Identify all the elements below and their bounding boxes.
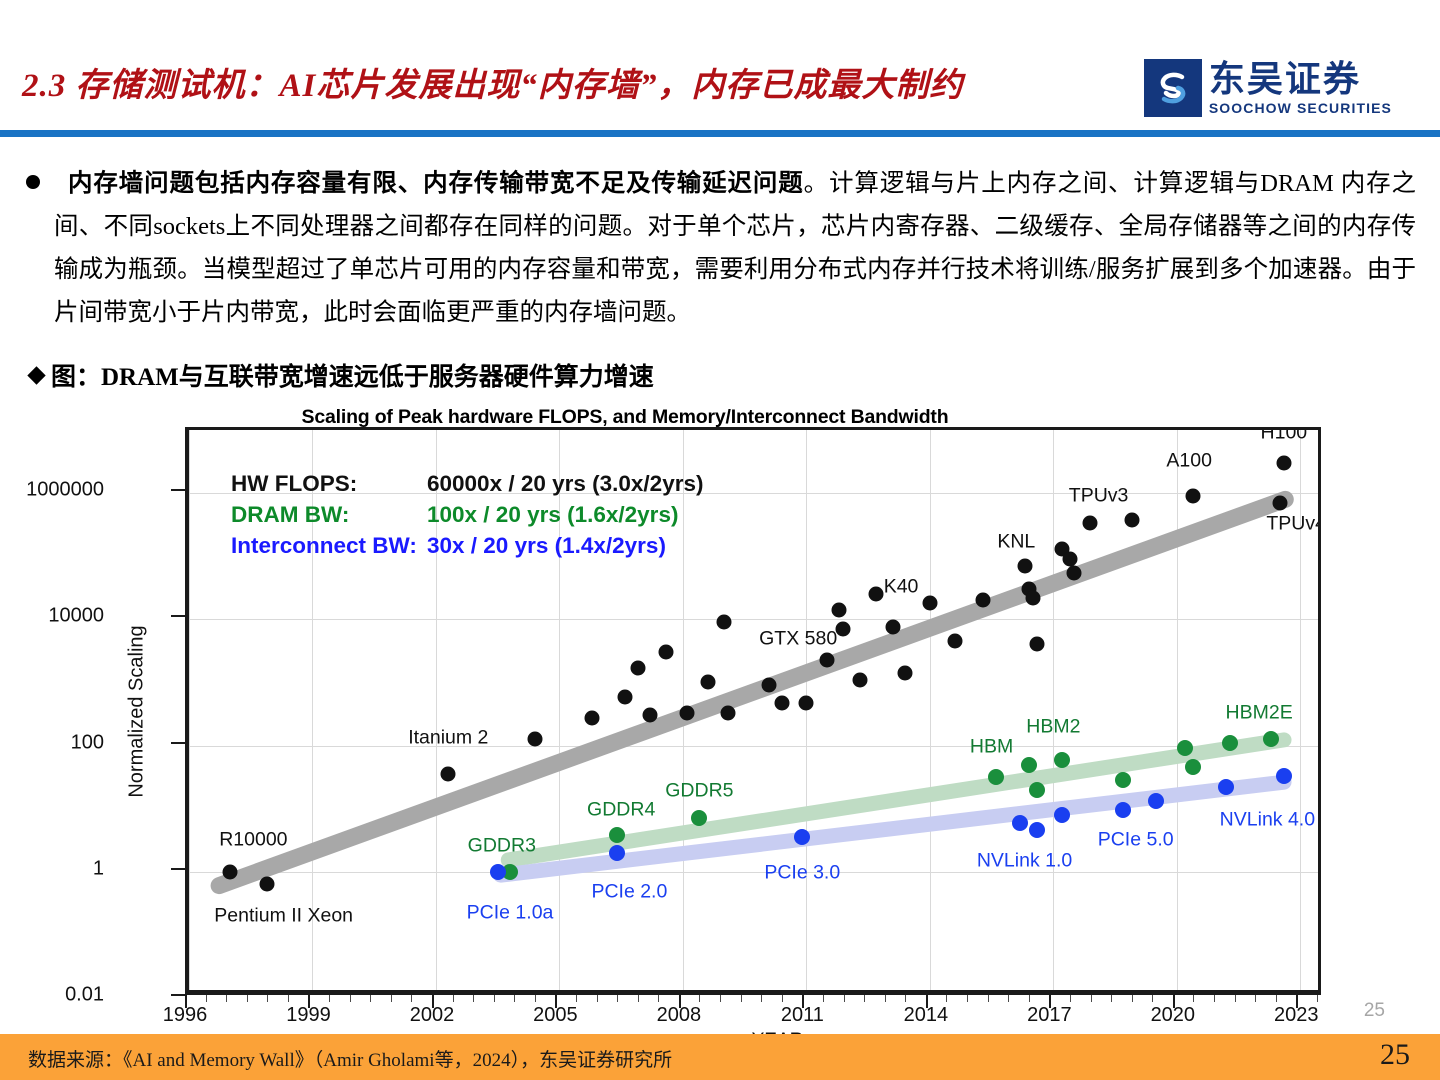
y-axis-title: Normalized Scaling — [126, 602, 149, 822]
x-axis-minor-tick — [967, 995, 968, 1002]
data-point — [1115, 772, 1131, 788]
data-point — [1276, 455, 1291, 470]
figure-caption-text: 图：DRAM与互联带宽增速远低于服务器硬件算力增速 — [51, 357, 654, 393]
y-axis-tick — [171, 615, 185, 617]
x-axis-minor-tick — [885, 995, 886, 1002]
x-axis-minor-tick — [741, 995, 742, 1002]
x-axis-minor-tick — [1008, 995, 1009, 1002]
chart-title: Scaling of Peak hardware FLOPS, and Memo… — [60, 406, 1370, 429]
page-number: 25 — [1380, 1038, 1410, 1072]
data-point — [630, 660, 645, 675]
legend-value: 30x / 20 yrs (1.4x/2yrs) — [427, 530, 666, 561]
bullet-paragraph: 内存墙问题包括内存容量有限、内存传输带宽不足及传输延迟问题。计算逻辑与片上内存之… — [26, 162, 1416, 334]
data-point — [260, 877, 275, 892]
data-point — [527, 732, 542, 747]
x-axis-minor-tick — [720, 995, 721, 1002]
x-axis-minor-tick — [1091, 995, 1092, 1002]
data-point — [1066, 565, 1081, 580]
x-axis-minor-tick — [1152, 995, 1153, 1002]
data-point — [852, 672, 867, 687]
x-axis-tick-label: 1999 — [286, 1004, 331, 1027]
point-label: H100 — [1261, 427, 1308, 444]
point-label: TPUv3 — [1069, 484, 1129, 507]
data-point — [1124, 512, 1139, 527]
x-axis-tick-label: 2011 — [781, 1004, 824, 1027]
data-point — [1054, 752, 1070, 768]
x-axis-minor-tick — [1132, 995, 1133, 1002]
x-axis-minor-tick — [1111, 995, 1112, 1002]
figure-caption: 图：DRAM与互联带宽增速远低于服务器硬件算力增速 — [30, 357, 654, 393]
x-axis-minor-tick — [1214, 995, 1215, 1002]
x-axis-minor-tick — [329, 995, 330, 1002]
footer-bar: 数据来源：《AI and Memory Wall》（Amir Gholami等，… — [0, 1034, 1440, 1080]
data-point — [609, 845, 625, 861]
data-point — [1276, 768, 1292, 784]
y-axis-tick-label: 100 — [71, 731, 104, 754]
x-axis-tick-label: 2005 — [533, 1004, 578, 1027]
legend-label: HW FLOPS: — [231, 468, 427, 499]
data-point — [585, 711, 600, 726]
y-axis-tick — [171, 994, 185, 996]
data-point — [441, 767, 456, 782]
x-axis-tick-label: 2002 — [410, 1004, 455, 1027]
x-axis-minor-tick — [391, 995, 392, 1002]
x-axis-minor-tick — [1070, 995, 1071, 1002]
plot-area: R10000Pentium II XeonItanium 2GTX 580K40… — [185, 427, 1321, 995]
data-point — [700, 675, 715, 690]
point-label: GTX 580 — [759, 628, 837, 651]
data-point — [1222, 735, 1238, 751]
point-label: NVLink 4.0 — [1220, 809, 1315, 832]
data-point — [1083, 516, 1098, 531]
data-point — [1029, 637, 1044, 652]
x-axis-minor-tick — [535, 995, 536, 1002]
x-axis-minor-tick — [494, 995, 495, 1002]
data-point — [799, 695, 814, 710]
diamond-bullet-icon — [27, 366, 45, 384]
x-axis-minor-tick — [638, 995, 639, 1002]
data-point — [1025, 590, 1040, 605]
legend-value: 60000x / 20 yrs (3.0x/2yrs) — [427, 468, 703, 499]
logo-mark-icon — [1144, 59, 1202, 117]
logo-text-cn: 东吴证券 — [1209, 61, 1392, 97]
data-point — [774, 695, 789, 710]
legend-label: DRAM BW: — [231, 499, 427, 530]
point-label: NVLink 1.0 — [977, 849, 1072, 872]
point-label: Itanium 2 — [408, 727, 488, 750]
point-label: TPUv4 — [1266, 513, 1321, 536]
x-axis-minor-tick — [370, 995, 371, 1002]
grid-line-horizontal — [189, 619, 1318, 620]
data-point — [1177, 740, 1193, 756]
point-label: HBM2 — [1026, 715, 1080, 738]
legend-label: Interconnect BW: — [231, 530, 427, 561]
x-axis-minor-tick — [844, 995, 845, 1002]
point-label: A100 — [1166, 450, 1212, 473]
data-point — [1185, 759, 1201, 775]
x-axis-tick-label: 2017 — [1027, 1004, 1072, 1027]
grid-line-horizontal — [189, 872, 1318, 873]
data-point — [642, 708, 657, 723]
x-axis-minor-tick — [1255, 995, 1256, 1002]
x-axis-minor-tick — [658, 995, 659, 1002]
x-axis-minor-tick — [411, 995, 412, 1002]
grid-line-vertical — [1053, 430, 1054, 990]
x-axis-minor-tick — [1317, 995, 1318, 1002]
legend-row: DRAM BW:100x / 20 yrs (1.6x/2yrs) — [231, 499, 703, 530]
x-axis-tick-label: 2014 — [904, 1004, 949, 1027]
bullet-text: 内存墙问题包括内存容量有限、内存传输带宽不足及传输延迟问题。计算逻辑与片上内存之… — [54, 162, 1416, 334]
point-label: HBM — [970, 735, 1013, 758]
y-axis-tick — [171, 868, 185, 870]
x-axis-minor-tick — [988, 995, 989, 1002]
grid-line-vertical — [189, 430, 190, 990]
y-axis-tick — [171, 742, 185, 744]
x-axis-minor-tick — [247, 995, 248, 1002]
x-axis-minor-tick — [617, 995, 618, 1002]
data-point — [1263, 731, 1279, 747]
data-point — [1115, 802, 1131, 818]
y-axis-tick — [171, 489, 185, 491]
y-axis-tick-label: 10000 — [48, 605, 104, 628]
point-label: R10000 — [219, 828, 287, 851]
point-label: HBM2E — [1226, 701, 1293, 724]
chart-figure: Scaling of Peak hardware FLOPS, and Memo… — [60, 400, 1370, 1050]
point-label: Pentium II Xeon — [214, 904, 353, 927]
grid-line-vertical — [930, 430, 931, 990]
x-axis-minor-tick — [473, 995, 474, 1002]
y-axis-tick-label: 1 — [93, 857, 104, 880]
x-axis-minor-tick — [288, 995, 289, 1002]
data-point — [1218, 779, 1234, 795]
data-point — [1021, 757, 1037, 773]
x-axis-minor-tick — [864, 995, 865, 1002]
data-point — [659, 645, 674, 660]
data-point — [1186, 488, 1201, 503]
data-point — [762, 678, 777, 693]
y-axis-tick-label: 0.01 — [65, 984, 104, 1007]
x-axis-tick-label: 2020 — [1151, 1004, 1196, 1027]
data-point — [680, 705, 695, 720]
data-point — [1017, 558, 1032, 573]
data-point — [717, 615, 732, 630]
data-point — [1029, 822, 1045, 838]
point-label: GDDR4 — [587, 799, 655, 822]
legend-row: HW FLOPS:60000x / 20 yrs (3.0x/2yrs) — [231, 468, 703, 499]
data-point — [1272, 495, 1287, 510]
data-point — [1148, 793, 1164, 809]
point-label: GDDR5 — [665, 780, 733, 803]
data-point — [976, 593, 991, 608]
x-axis-minor-tick — [226, 995, 227, 1002]
legend-row: Interconnect BW:30x / 20 yrs (1.4x/2yrs) — [231, 530, 703, 561]
data-point — [223, 864, 238, 879]
grid-line-horizontal — [189, 746, 1318, 747]
x-axis-minor-tick — [1193, 995, 1194, 1002]
data-point — [819, 652, 834, 667]
y-axis-tick-label: 1000000 — [26, 479, 104, 502]
grid-line-vertical — [1177, 430, 1178, 990]
chart-legend: HW FLOPS:60000x / 20 yrs (3.0x/2yrs)DRAM… — [231, 468, 703, 561]
x-axis-minor-tick — [514, 995, 515, 1002]
source-note: 数据来源：《AI and Memory Wall》（Amir Gholami等，… — [28, 1045, 672, 1072]
x-axis-minor-tick — [350, 995, 351, 1002]
data-point — [490, 864, 506, 880]
x-axis-minor-tick — [206, 995, 207, 1002]
page-title: 2.3 存储测试机：AI芯片发展出现“内存墙”，内存已成最大制约 — [22, 58, 1202, 106]
x-axis-minor-tick — [905, 995, 906, 1002]
x-axis-minor-tick — [597, 995, 598, 1002]
x-axis-minor-tick — [267, 995, 268, 1002]
data-point — [836, 622, 851, 637]
x-axis-minor-tick — [453, 995, 454, 1002]
point-label: KNL — [997, 530, 1035, 553]
x-axis-minor-tick — [782, 995, 783, 1002]
x-axis-minor-tick — [761, 995, 762, 1002]
bullet-dot-icon — [26, 175, 40, 189]
data-point — [1054, 807, 1070, 823]
x-axis-tick-label: 1996 — [163, 1004, 208, 1027]
data-point — [1012, 815, 1028, 831]
data-point — [1029, 782, 1045, 798]
data-point — [794, 829, 810, 845]
point-label: GDDR3 — [468, 834, 536, 857]
x-axis-tick-label: 2008 — [657, 1004, 702, 1027]
point-label: K40 — [884, 575, 919, 598]
x-axis-minor-tick — [576, 995, 577, 1002]
data-point — [832, 603, 847, 618]
data-point — [869, 587, 884, 602]
data-point — [618, 690, 633, 705]
data-point — [609, 827, 625, 843]
x-axis-minor-tick — [1276, 995, 1277, 1002]
point-label: PCIe 1.0a — [467, 902, 554, 925]
x-axis-minor-tick — [823, 995, 824, 1002]
data-point — [691, 810, 707, 826]
point-label: PCIe 2.0 — [591, 880, 667, 903]
x-axis-minor-tick — [699, 995, 700, 1002]
page-number-top: 25 — [1364, 1000, 1385, 1022]
data-point — [947, 634, 962, 649]
point-label: PCIe 3.0 — [764, 862, 840, 885]
x-axis-tick-label: 2023 — [1274, 1004, 1319, 1027]
x-axis-minor-tick — [1235, 995, 1236, 1002]
legend-value: 100x / 20 yrs (1.6x/2yrs) — [427, 499, 678, 530]
data-point — [885, 620, 900, 635]
data-point — [988, 769, 1004, 785]
data-point — [721, 705, 736, 720]
data-point — [898, 666, 913, 681]
logo-text-en: SOOCHOW SECURITIES — [1209, 101, 1392, 115]
x-axis-minor-tick — [946, 995, 947, 1002]
company-logo: 东吴证券 SOOCHOW SECURITIES — [1144, 57, 1392, 119]
data-point — [922, 596, 937, 611]
point-label: PCIe 5.0 — [1098, 828, 1174, 851]
header-divider — [0, 130, 1440, 137]
x-axis-minor-tick — [1029, 995, 1030, 1002]
